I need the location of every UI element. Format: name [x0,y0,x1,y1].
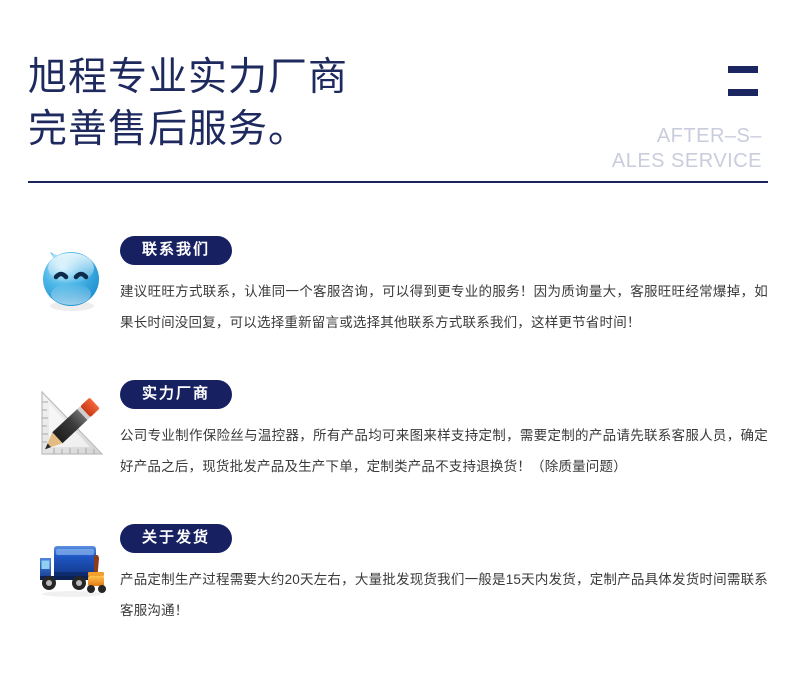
wangwang-smiley-icon [32,240,110,318]
paragraph-shipping: 产品定制生产过程需要大约20天左右，大量批发现货我们一般是15天内发货，定制产品… [120,564,768,626]
english-subtitle: AFTER–S– ALES SERVICE [532,124,762,174]
section-contact-us-body: 联系我们 建议旺旺方式联系，认准同一个客服咨询，可以得到更专业的服务！因为质询量… [120,236,770,338]
section-manufacturer-body: 实力厂商 公司专业制作保险丝与温控器，所有产品均可来图来样支持定制，需要定制的产… [120,380,770,482]
number-stroke-top [728,66,758,73]
section-shipping-body: 关于发货 产品定制生产过程需要大约20天左右，大量批发现货我们一般是15天内发货… [120,524,770,626]
paragraph-contact-us: 建议旺旺方式联系，认准同一个客服咨询，可以得到更专业的服务！因为质询量大，客服旺… [120,276,768,338]
english-subtitle-line-2: ALES SERVICE [532,149,762,174]
english-subtitle-line-1: AFTER–S– [532,124,762,149]
page-title: 旭程专业实力厂商 完善售后服务。 [28,52,458,156]
delivery-truck-icon [32,528,110,606]
pencil-ruler-icon [32,384,110,462]
page-header: 旭程专业实力厂商 完善售后服务。 AFTER–S– ALES SERVICE [0,0,790,200]
number-stroke-bottom [728,89,758,96]
header-divider [28,181,768,183]
title-line-1: 旭程专业实力厂商 [28,52,458,104]
badge-shipping[interactable]: 关于发货 [120,524,232,553]
badge-contact-us[interactable]: 联系我们 [120,236,232,265]
section-number-two-icon [728,60,762,100]
badge-manufacturer[interactable]: 实力厂商 [120,380,232,409]
title-line-2: 完善售后服务。 [28,104,458,156]
paragraph-manufacturer: 公司专业制作保险丝与温控器，所有产品均可来图来样支持定制，需要定制的产品请先联系… [120,420,768,482]
